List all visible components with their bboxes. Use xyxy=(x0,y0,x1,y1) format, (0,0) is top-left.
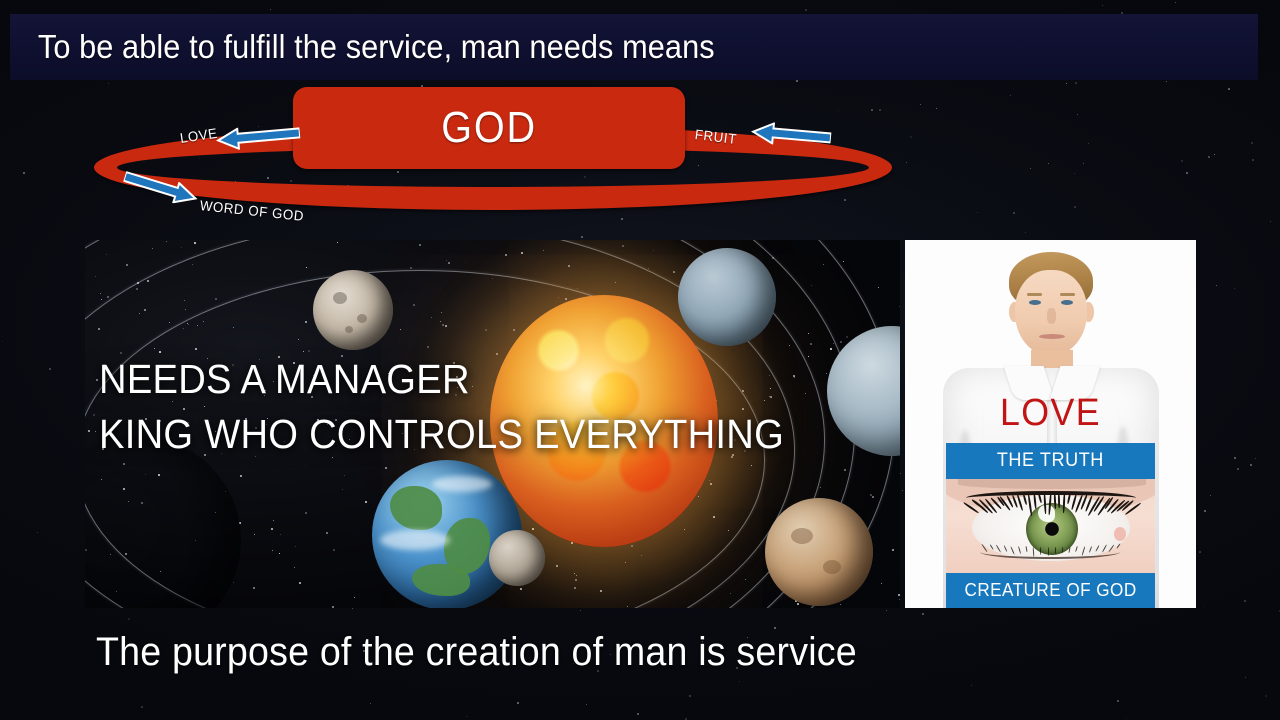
love-heading: LOVE xyxy=(914,392,1188,435)
slide-title-band: To be able to fulfill the service, man n… xyxy=(10,14,1258,80)
god-box: GOD xyxy=(293,87,685,169)
cycle-diagram: GOD LOVE FRUIT WORD OF GOD xyxy=(88,86,898,226)
planet-neptune xyxy=(678,248,776,346)
space-overlay-text: NEEDS A MANAGER KING WHO CONTROLS EVERYT… xyxy=(99,352,836,462)
god-label: GOD xyxy=(441,103,537,153)
truth-banner-label: THE TRUTH xyxy=(997,450,1104,472)
slide-canvas: To be able to fulfill the service, man n… xyxy=(0,0,1280,720)
creature-banner-label: CREATURE OF GOD xyxy=(964,580,1136,601)
space-text-line-1: NEEDS A MANAGER xyxy=(99,352,784,407)
space-text-line-2: KING WHO CONTROLS EVERYTHING xyxy=(99,407,784,462)
planet-earth xyxy=(372,460,522,608)
slide-title: To be able to fulfill the service, man n… xyxy=(10,28,715,66)
creature-banner: CREATURE OF GOD xyxy=(946,573,1155,608)
eye-photo xyxy=(946,479,1155,573)
eye-card: THE TRUTH CREATURE OF GOD xyxy=(946,443,1155,608)
photo-panel: LOVE THE TRUTH CREATURE OF GOD xyxy=(905,240,1196,608)
slide-caption: The purpose of the creation of man is se… xyxy=(96,630,857,675)
truth-banner: THE TRUTH xyxy=(946,443,1155,479)
space-illustration: NEEDS A MANAGER KING WHO CONTROLS EVERYT… xyxy=(85,240,900,608)
planet-mercury xyxy=(489,530,545,586)
planet-mars xyxy=(765,498,873,606)
planet-moon xyxy=(313,270,393,350)
